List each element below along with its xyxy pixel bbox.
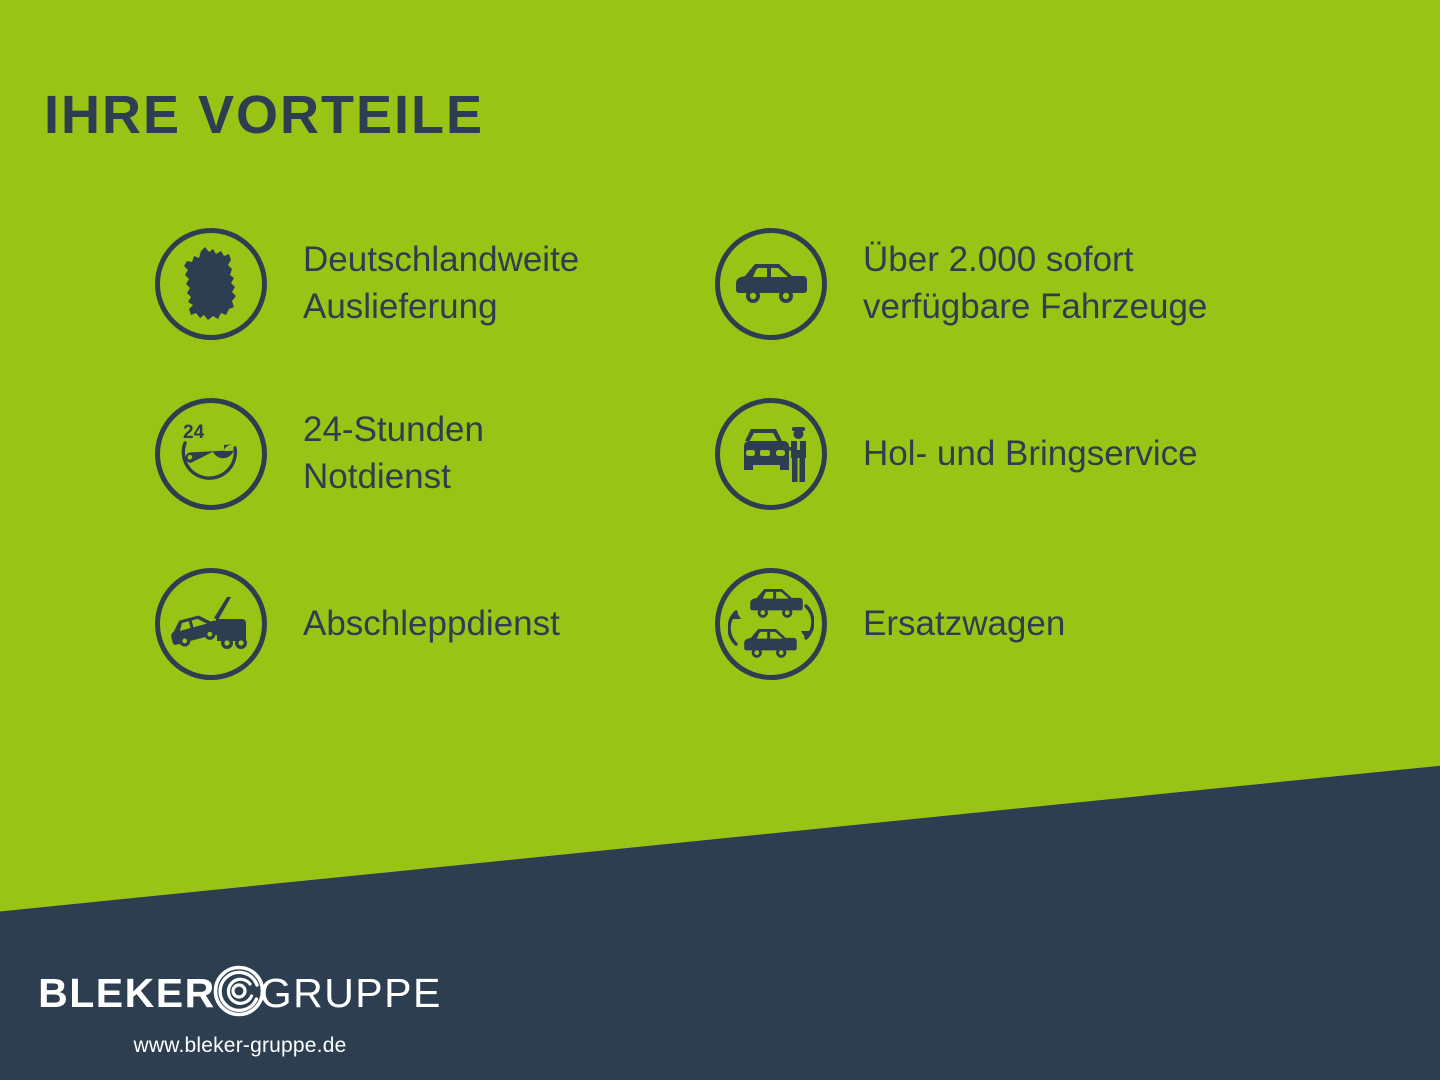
benefits-row: 24 24-Stunden Notdienst — [155, 398, 1385, 510]
benefits-row: Deutschlandweite Auslieferung Über 2.000… — [155, 228, 1385, 340]
benefit-label: Hol- und Bringservice — [863, 431, 1198, 478]
logo-url[interactable]: www.bleker-gruppe.de — [30, 1034, 450, 1058]
car-with-driver-icon — [715, 398, 827, 510]
page-title: IHRE VORTEILE — [44, 88, 484, 142]
benefit-item-abschleppdienst[interactable]: Abschleppdienst — [155, 568, 715, 680]
benefit-label: Über 2.000 sofort verfügbare Fahrzeuge — [863, 237, 1207, 330]
logo-secondary-text: GRUPPE — [260, 973, 442, 1014]
footer-logo-block[interactable]: BLEKER GRUPPE www.bleker-gruppe.de — [30, 964, 450, 1058]
24-hour-wrench-icon: 24 — [155, 398, 267, 510]
benefit-label: Deutschlandweite Auslieferung — [303, 237, 579, 330]
car-side-icon — [715, 228, 827, 340]
benefit-item-hol-und-bringservice[interactable]: Hol- und Bringservice — [715, 398, 1375, 510]
benefit-item-deutschlandweite-auslieferung[interactable]: Deutschlandweite Auslieferung — [155, 228, 715, 340]
germany-map-icon — [155, 228, 267, 340]
car-swap-icon — [715, 568, 827, 680]
benefits-grid: Deutschlandweite Auslieferung Über 2.000… — [155, 228, 1385, 680]
slide-canvas: IHRE VORTEILE Deutschlandweite Ausliefer… — [0, 0, 1440, 1080]
benefit-label: Abschleppdienst — [303, 601, 560, 648]
benefit-label: Ersatzwagen — [863, 601, 1065, 648]
logo-lockup: BLEKER GRUPPE — [30, 964, 450, 1022]
logo-primary-text: BLEKER — [38, 973, 216, 1014]
benefit-label: 24-Stunden Notdienst — [303, 407, 484, 500]
tow-truck-icon — [155, 568, 267, 680]
svg-text:24: 24 — [183, 422, 205, 443]
benefit-item-24-stunden-notdienst[interactable]: 24 24-Stunden Notdienst — [155, 398, 715, 510]
spiral-swirl-icon — [212, 964, 266, 1022]
benefit-item-verfuegbare-fahrzeuge[interactable]: Über 2.000 sofort verfügbare Fahrzeuge — [715, 228, 1375, 340]
benefits-row: Abschleppdienst — [155, 568, 1385, 680]
benefit-item-ersatzwagen[interactable]: Ersatzwagen — [715, 568, 1375, 680]
